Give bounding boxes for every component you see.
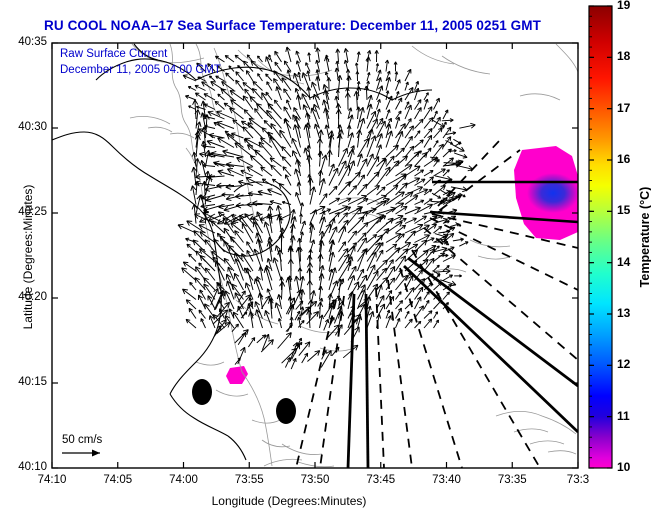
current-vector: [300, 268, 301, 281]
radar-beam-solid-6: [366, 294, 368, 468]
y-tick-label: 40:20: [2, 291, 47, 303]
x-axis-label: Longitude (Degrees:Minutes): [0, 494, 578, 508]
y-tick-label: 40:30: [2, 121, 47, 133]
x-tick-label: 73:40: [423, 474, 471, 486]
y-tick-label: 40:35: [2, 36, 47, 48]
colorbar-tick-label: 14: [617, 255, 630, 269]
colorbar-tick-label: 19: [617, 0, 630, 12]
x-tick-label: 73:50: [291, 474, 339, 486]
y-axis-label: Latitude (Degrees:Minutes): [21, 147, 35, 367]
colorbar-tick-label: 13: [617, 306, 630, 320]
colorbar-tick-label: 16: [617, 152, 630, 166]
colorbar-label: Temperature (°C): [638, 152, 651, 322]
current-vector: [222, 195, 234, 196]
x-tick-label: 73:45: [357, 474, 405, 486]
current-vector: [300, 247, 301, 262]
x-tick-label: 73:35: [488, 474, 536, 486]
scale-legend-label: 50 cm/s: [62, 434, 102, 446]
y-tick-label: 40:25: [2, 206, 47, 218]
colorbar-tick-label: 12: [617, 357, 630, 371]
current-vector: [320, 138, 321, 157]
x-tick-label: 74:05: [94, 474, 142, 486]
colorbar-tick-label: 15: [617, 203, 630, 217]
colorbar-tick-label: 17: [617, 101, 630, 115]
colorbar-gradient: [589, 6, 612, 468]
annotation-line-2: December 11, 2005 04:00 GMT: [60, 64, 221, 76]
y-tick-label: 40:15: [2, 376, 47, 388]
sst-patch-core: [527, 173, 579, 213]
colorbar-tick-label: 18: [617, 49, 630, 63]
colorbar-tick-label: 10: [617, 460, 630, 474]
sst-map-figure: RU COOL NOAA–17 Sea Surface Temperature:…: [0, 0, 651, 519]
x-tick-label: 74:00: [160, 474, 208, 486]
annotation-line-1: Raw Surface Current: [60, 48, 167, 60]
y-tick-label: 40:10: [2, 461, 47, 473]
x-tick-label: 73:3: [554, 474, 602, 486]
x-tick-label: 74:10: [28, 474, 76, 486]
x-tick-label: 73:55: [225, 474, 273, 486]
radar-marker-1: [192, 379, 212, 405]
colorbar-tick-label: 11: [617, 409, 630, 423]
radar-marker-2: [276, 398, 296, 424]
